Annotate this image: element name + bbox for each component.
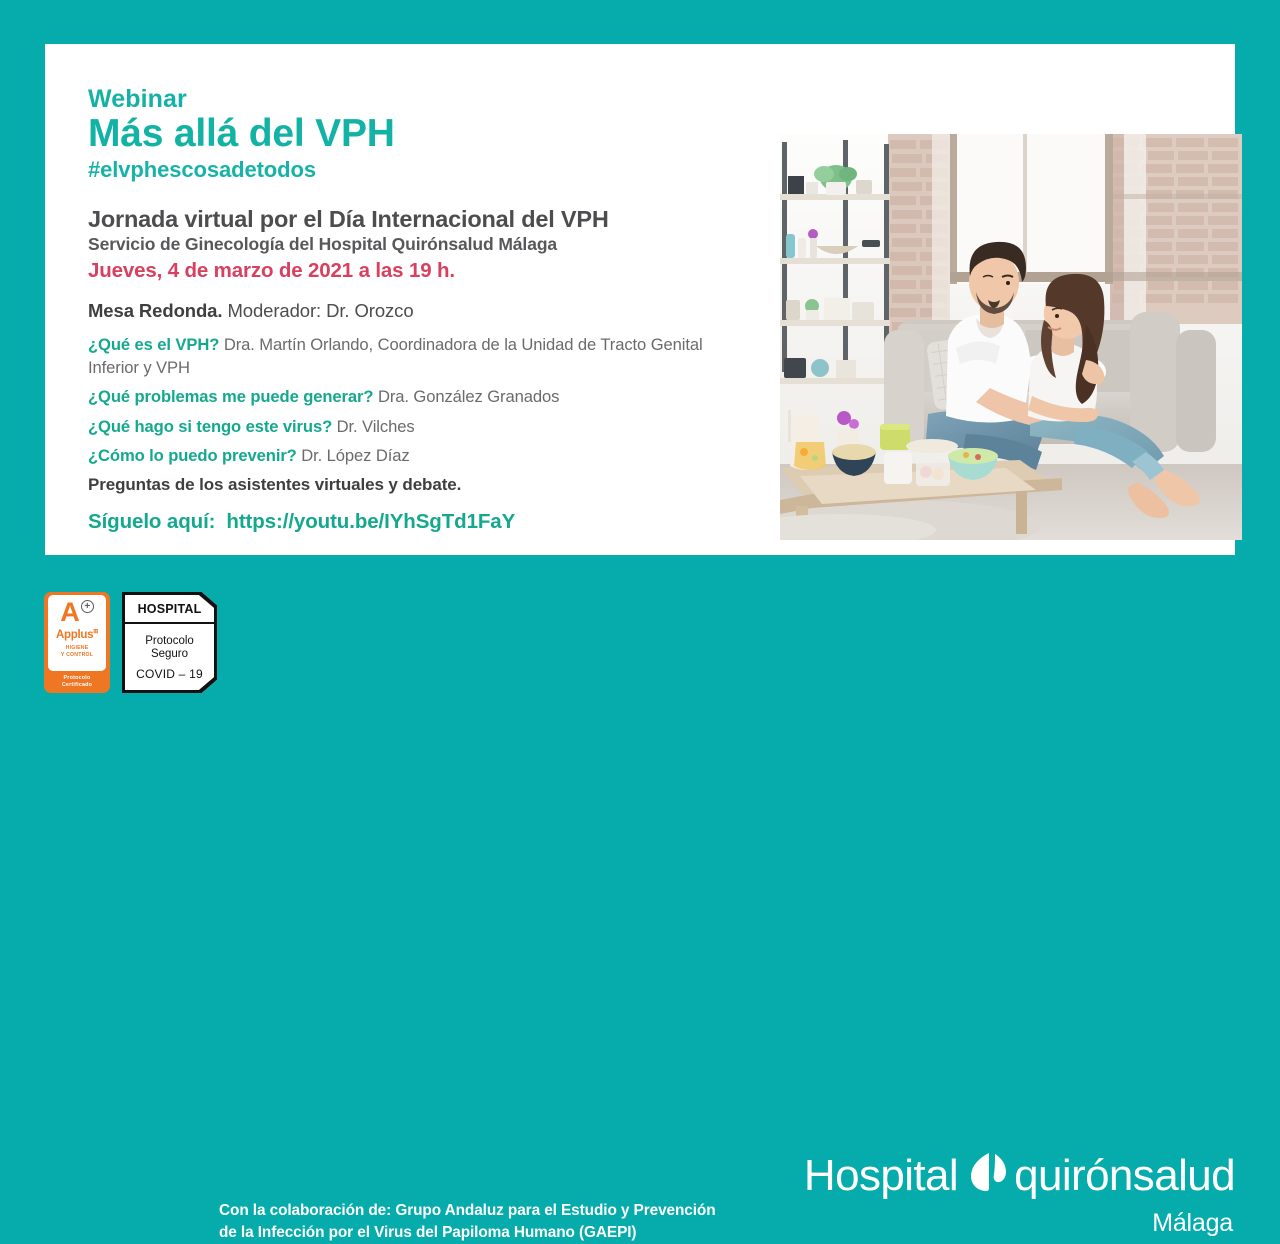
follow-label: Síguelo aquí: xyxy=(88,510,215,533)
covid-protocol-badge: HOSPITAL Protocolo Seguro COVID – 19 xyxy=(122,592,217,693)
certification-badges: A + Applus⊞ HIGIENE Y CONTROL Protocolo … xyxy=(44,592,217,693)
photo-illustration xyxy=(780,134,1242,540)
covid-badge-header: HOSPITAL xyxy=(125,595,214,624)
panel-label: Mesa Redonda. xyxy=(88,300,222,321)
covid-badge-protocol: Protocolo Seguro xyxy=(145,635,194,661)
applus-scope: HIGIENE Y CONTROL xyxy=(61,645,93,658)
hashtag-label: #elvphescosadetodos xyxy=(88,158,728,182)
agenda-closing: Preguntas de los asistentes virtuales y … xyxy=(88,474,728,497)
agenda-item: ¿Qué problemas me puede generar? Dra. Go… xyxy=(88,386,728,408)
applus-base-line2: Certificado xyxy=(62,682,92,689)
agenda-list: ¿Qué es el VPH? Dra. Martín Orlando, Coo… xyxy=(88,334,728,497)
applus-inner-panel: A + Applus⊞ HIGIENE Y CONTROL xyxy=(48,595,106,671)
event-photo xyxy=(780,134,1242,540)
agenda-item: ¿Cómo lo puedo prevenir? Dr. López Díaz xyxy=(88,445,728,467)
applus-registered-icon: ⊞ xyxy=(93,629,98,635)
applus-wordmark: Applus⊞ xyxy=(56,629,98,641)
collaboration-line2: de la Infección por el Virus del Papilom… xyxy=(219,1222,716,1244)
covid-badge-face: HOSPITAL Protocolo Seguro COVID – 19 xyxy=(125,595,214,690)
poster-root: Webinar Más allá del VPH #elvphescosadet… xyxy=(0,0,1280,720)
event-subtitle: Servicio de Ginecología del Hospital Qui… xyxy=(88,234,728,255)
applus-scope-line1: HIGIENE xyxy=(61,645,93,652)
follow-line: Síguelo aquí:https://youtu.be/IYhSgTd1Fa… xyxy=(88,510,728,535)
agenda-question: ¿Cómo lo puedo prevenir? xyxy=(88,446,297,465)
applus-wordmark-text: Applus xyxy=(56,629,93,641)
page-title: Más allá del VPH xyxy=(88,113,728,154)
logo-city: Málaga xyxy=(815,1209,1233,1238)
applus-plus-icon: + xyxy=(81,600,94,613)
covid-badge-body: Protocolo Seguro COVID – 19 xyxy=(125,624,214,690)
event-lead: Jornada virtual por el Día Internacional… xyxy=(88,206,728,232)
applus-protocol-label: Protocolo Certificado xyxy=(62,675,92,689)
text-column: Webinar Más allá del VPH #elvphescosadet… xyxy=(88,86,728,535)
agenda-question: ¿Qué hago si tengo este virus? xyxy=(88,417,332,436)
covid-line2: Seguro xyxy=(151,648,188,660)
logo-hospital-word: Hospital xyxy=(804,1154,958,1198)
footer: A + Applus⊞ HIGIENE Y CONTROL Protocolo … xyxy=(0,555,1280,720)
agenda-question: ¿Qué es el VPH? xyxy=(88,335,219,354)
panel-moderator: Mesa Redonda. Moderador: Dr. Orozco xyxy=(88,300,728,322)
quironsalud-logo: Hospital quirónsalud Málaga xyxy=(815,1150,1235,1238)
covid-line1: Protocolo xyxy=(145,635,194,647)
content-card: Webinar Más allá del VPH #elvphescosadet… xyxy=(45,44,1235,555)
agenda-item: ¿Qué es el VPH? Dra. Martín Orlando, Coo… xyxy=(88,334,728,379)
logo-wordmark: Hospital quirónsalud xyxy=(815,1150,1235,1202)
agenda-speaker: Dr. Vilches xyxy=(337,417,415,436)
event-date: Jueves, 4 de marzo de 2021 a las 19 h. xyxy=(88,259,728,283)
applus-scope-line2: Y CONTROL xyxy=(61,652,93,659)
moderator-name: Moderador: Dr. Orozco xyxy=(227,300,413,321)
logo-quironsalud-word: quirónsalud xyxy=(1014,1154,1235,1198)
applus-base-line1: Protocolo xyxy=(62,675,92,682)
applus-a-mark: A + xyxy=(60,599,94,626)
collaboration-note: Con la colaboración de: Grupo Andaluz pa… xyxy=(219,1200,716,1244)
youtube-link[interactable]: https://youtu.be/IYhSgTd1FaY xyxy=(226,510,515,533)
applus-letter: A xyxy=(60,599,80,626)
agenda-question: ¿Qué problemas me puede generar? xyxy=(88,387,373,406)
agenda-speaker: Dr. López Díaz xyxy=(301,446,409,465)
agenda-item: ¿Qué hago si tengo este virus? Dr. Vilch… xyxy=(88,416,728,438)
kicker-label: Webinar xyxy=(88,86,728,112)
leaf-icon xyxy=(968,1150,1008,1202)
collaboration-line1: Con la colaboración de: Grupo Andaluz pa… xyxy=(219,1200,716,1222)
applus-certificate-badge: A + Applus⊞ HIGIENE Y CONTROL Protocolo … xyxy=(44,592,110,693)
covid-badge-disease: COVID – 19 xyxy=(136,667,203,681)
agenda-speaker: Dra. González Granados xyxy=(378,387,559,406)
